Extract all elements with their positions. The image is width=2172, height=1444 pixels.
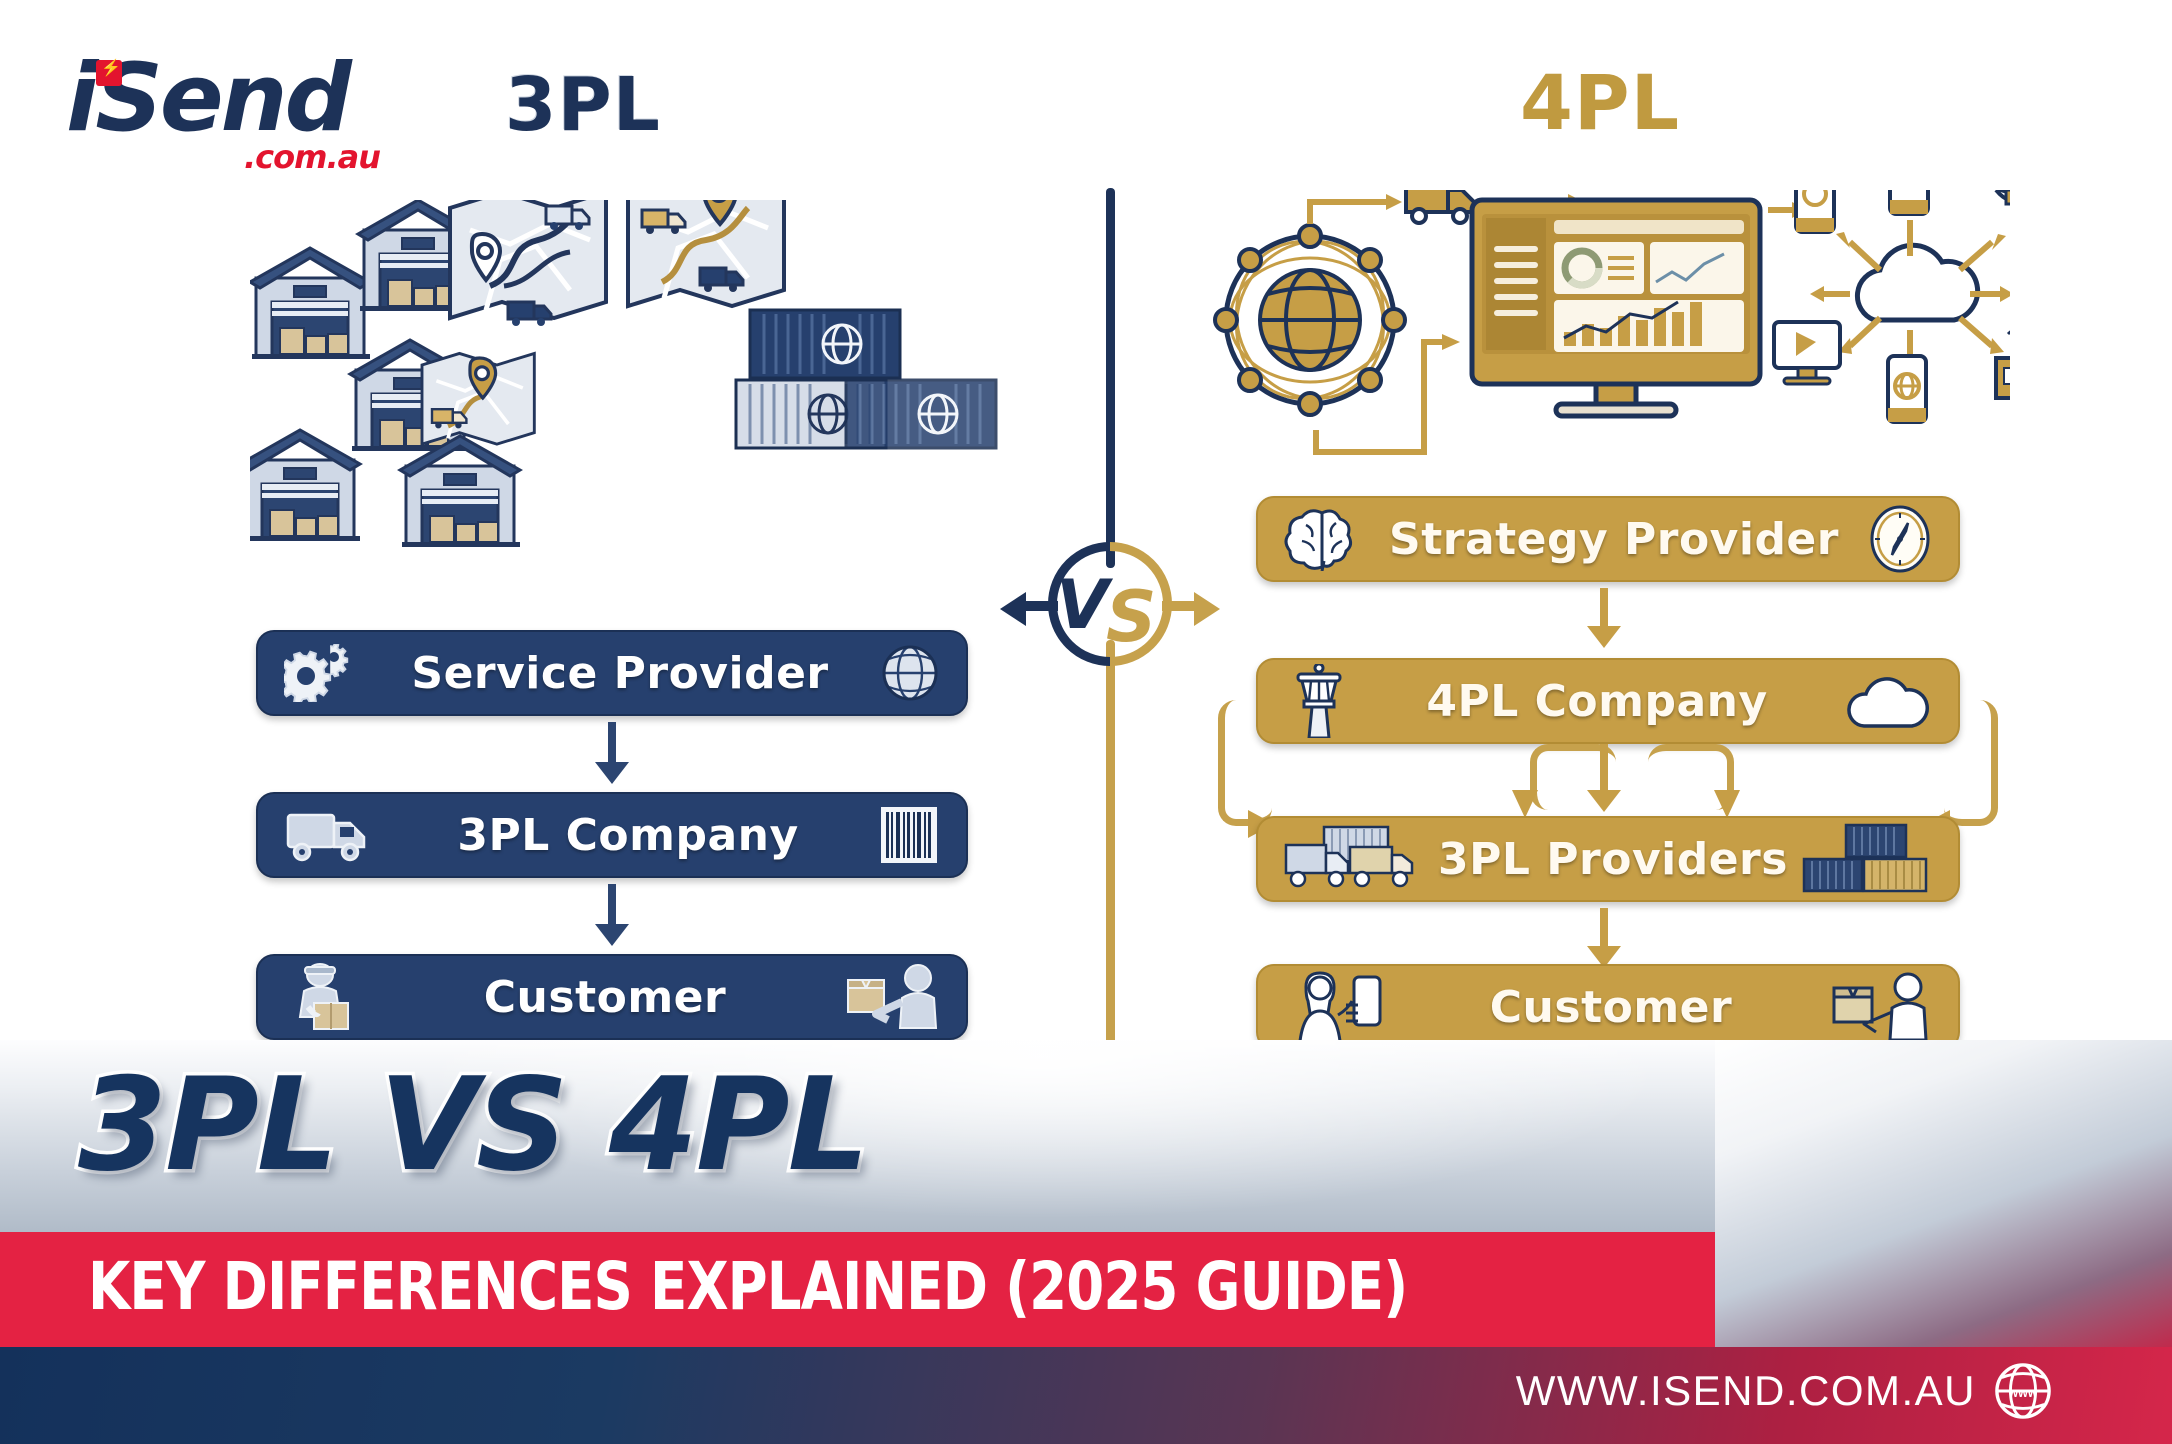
flow-label: Service Provider (360, 648, 880, 699)
right-gradient-wash (1715, 1040, 2172, 1347)
delivery-person-icon (284, 961, 368, 1033)
heading-4pl: 4PL (1520, 58, 1680, 147)
vs-letter-v: V (1056, 566, 1109, 645)
gears-icon (284, 644, 360, 702)
flow-box-3pl-providers[interactable]: 3PL Providers (1256, 816, 1960, 902)
flow-box-4pl-company[interactable]: 4PL Company (1256, 658, 1960, 744)
flow-label: 3PL Providers (1424, 834, 1802, 885)
logo-lightning-badge-icon (96, 60, 122, 86)
subtitle-text: KEY DIFFERENCES EXPLAINED (2025 GUIDE) (88, 1248, 1560, 1325)
flow-label: Strategy Provider (1360, 514, 1868, 565)
globe-icon (880, 643, 940, 703)
desktop-monitor-icon (1774, 322, 1840, 384)
flow-box-3pl-company[interactable]: 3PL Company (256, 792, 968, 878)
flow-box-service-provider[interactable]: Service Provider (256, 630, 968, 716)
containers-icon (1802, 823, 1932, 895)
logo-tld: .com.au (244, 138, 380, 176)
person-receiving-box-icon (1828, 972, 1932, 1042)
vs-badge: V S (1010, 530, 1210, 710)
www-globe-icon: www (1994, 1362, 2052, 1420)
flow-label: 4PL Company (1354, 676, 1840, 727)
globe-phone-icon (1888, 356, 1926, 422)
wifi-phone-icon (1890, 190, 1928, 214)
trucks-icon (1284, 823, 1424, 895)
vs-letter-s: S (1106, 576, 1156, 658)
vs-arrow-left-stem (1024, 601, 1058, 611)
flow-label: Customer (1394, 982, 1828, 1033)
flow-box-strategy-provider[interactable]: Strategy Provider (1256, 496, 1960, 582)
footer-url: WWW.ISEND.COM.AU (1516, 1367, 1976, 1415)
page-title: 3PL VS 4PL (78, 1062, 867, 1190)
person-receiving-box-icon (842, 962, 940, 1032)
isend-logo: iSend .com.au (66, 38, 396, 168)
brain-icon (1284, 507, 1360, 571)
vs-arrow-right-icon (1194, 592, 1220, 626)
barcode-icon (878, 804, 940, 866)
truck-icon (1406, 190, 1474, 223)
compass-icon (1868, 505, 1932, 573)
truck-icon (284, 805, 378, 865)
woman-with-phone-icon (1284, 971, 1394, 1043)
vs-arrow-right-stem (1162, 601, 1196, 611)
smartphone-icon (1796, 190, 1834, 232)
flow-label: 3PL Company (378, 810, 878, 861)
control-tower-icon (1284, 664, 1354, 738)
factory-icon (1996, 326, 2010, 399)
svg-text:www: www (2007, 1386, 2038, 1400)
drone-icon (1985, 190, 2010, 204)
iot-cloud-hub (1774, 190, 2010, 422)
flow-box-customer-right[interactable]: Customer (1256, 964, 1960, 1050)
dashboard-monitor-icon (1472, 200, 1760, 416)
heading-3pl: 3PL (505, 62, 661, 148)
network-globe-icon (1211, 217, 1409, 423)
cloud-icon (1840, 670, 1932, 732)
left-illustration (250, 200, 1010, 630)
divider-navy (1106, 188, 1115, 568)
flow-box-customer-left[interactable]: Customer (256, 954, 968, 1040)
flow-label: Customer (368, 972, 842, 1023)
infographic-canvas: iSend .com.au 3PL 4PL (0, 0, 2172, 1444)
right-illustration (1210, 190, 2010, 510)
vs-arrow-left-icon (1000, 592, 1026, 626)
